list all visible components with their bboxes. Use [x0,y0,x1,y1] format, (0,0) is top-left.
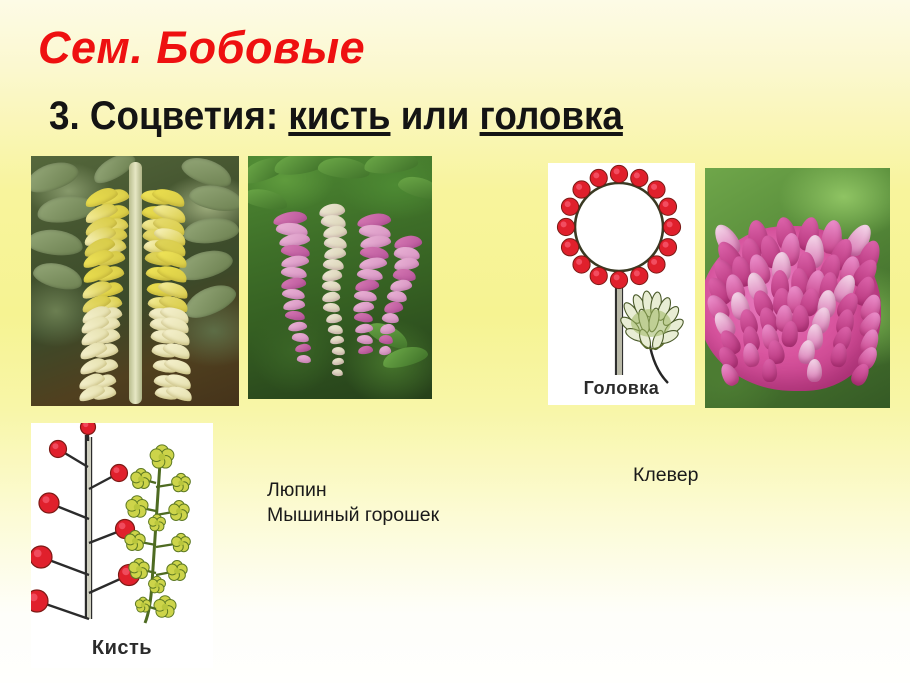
lupine-spike-axis [129,162,142,404]
subtitle-term-golovka: головка [480,94,623,138]
slide-root: Сем. Бобовые 3. Соцветия: кисть или голо… [0,0,910,683]
golovka-clover-drawing [618,290,685,383]
golovka-label: Головка [548,378,695,399]
golovka-diagram-svg [548,163,695,405]
kist-pedicels [37,427,129,619]
caption-lupine-line2: Мышиный горошек [267,503,439,528]
caption-lupine: Люпин Мышиный горошек [267,478,439,528]
kist-yellow-spike [125,445,191,623]
caption-clover: Клевер [633,463,698,488]
subtitle-conjunction: или [390,94,479,138]
photo-clover [705,168,890,408]
subtitle-term-kist: кисть [288,94,390,138]
photo-lupine [31,156,239,406]
subtitle-prefix: 3. Соцветия: [49,94,288,138]
kist-diagram-svg [31,423,213,668]
page-title: Сем. Бобовые [38,22,365,74]
kist-label: Кисть [31,637,213,660]
page-subtitle: 3. Соцветия: кисть или головка [49,92,623,140]
diagram-card-golovka: Головка [548,163,695,405]
diagram-card-kist: Кисть [31,423,213,668]
golovka-receptacle-ring [575,183,663,271]
photo-vetch [248,156,432,399]
caption-lupine-line1: Люпин [267,478,439,503]
